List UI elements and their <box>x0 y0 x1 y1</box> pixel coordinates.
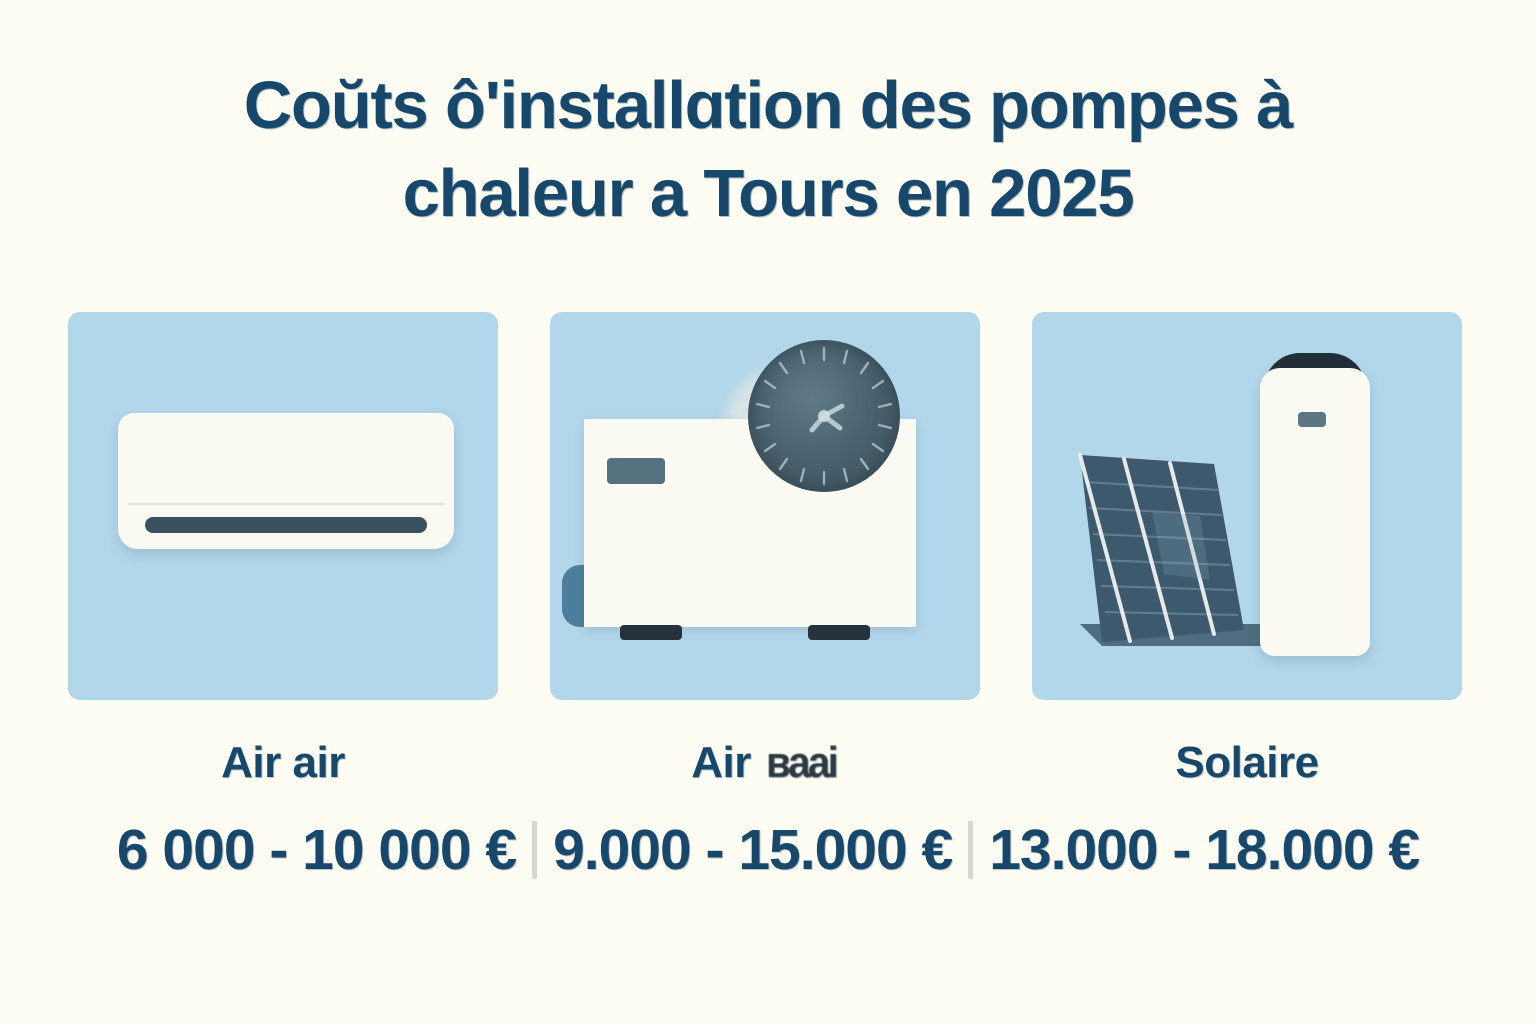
card-air-air <box>68 312 498 700</box>
water-tank-control-panel <box>1298 412 1326 427</box>
cards-row <box>68 312 1462 700</box>
split-air-conditioner-icon <box>68 312 498 700</box>
device-labels-row: Air air Air ʙaai Solaire <box>68 734 1462 792</box>
label-cell-solaire: Solaire <box>1032 734 1462 792</box>
heat-pump-fan-grille <box>748 340 900 492</box>
prices-row: 6 000 - 10 000 € 9.000 - 15.000 € 13.000… <box>40 812 1496 888</box>
card-air-eau <box>550 312 980 700</box>
heat-pump-foot-right <box>808 625 870 640</box>
device-label-air-eau: Air ʙaai <box>550 734 980 792</box>
outdoor-heat-pump-icon <box>550 312 980 700</box>
price-air-air: 6 000 - 10 000 € <box>101 812 532 888</box>
device-label-air-eau-prefix: Air <box>691 738 762 787</box>
solar-panel-water-tank-icon <box>1032 312 1462 700</box>
device-label-solaire: Solaire <box>1032 734 1462 792</box>
page-title-line-1: Coŭts ô'installɑtion des pompes à <box>60 62 1476 150</box>
price-solaire: 13.000 - 18.000 € <box>973 812 1435 888</box>
label-cell-air-air: Air air <box>68 734 498 792</box>
page-title-line-2: chaleur a Tours en 2025 <box>60 150 1476 238</box>
heat-pump-foot-left <box>620 625 682 640</box>
heat-pump-vent-panel <box>607 458 665 484</box>
ac-unit-seam <box>128 503 444 505</box>
device-label-air-eau-glitch: ʙaai <box>766 734 836 792</box>
label-cell-air-eau: Air ʙaai <box>550 734 980 792</box>
device-label-air-air: Air air <box>68 734 498 792</box>
ac-unit-vent <box>145 517 427 533</box>
solar-panel-graphic <box>1032 312 1462 700</box>
water-tank-body <box>1260 368 1370 656</box>
page-title: Coŭts ô'installɑtion des pompes à chaleu… <box>0 62 1536 238</box>
card-solaire <box>1032 312 1462 700</box>
price-air-eau: 9.000 - 15.000 € <box>537 812 968 888</box>
infographic-root: Coŭts ô'installɑtion des pompes à chaleu… <box>0 0 1536 1024</box>
ac-unit-body <box>118 413 454 549</box>
